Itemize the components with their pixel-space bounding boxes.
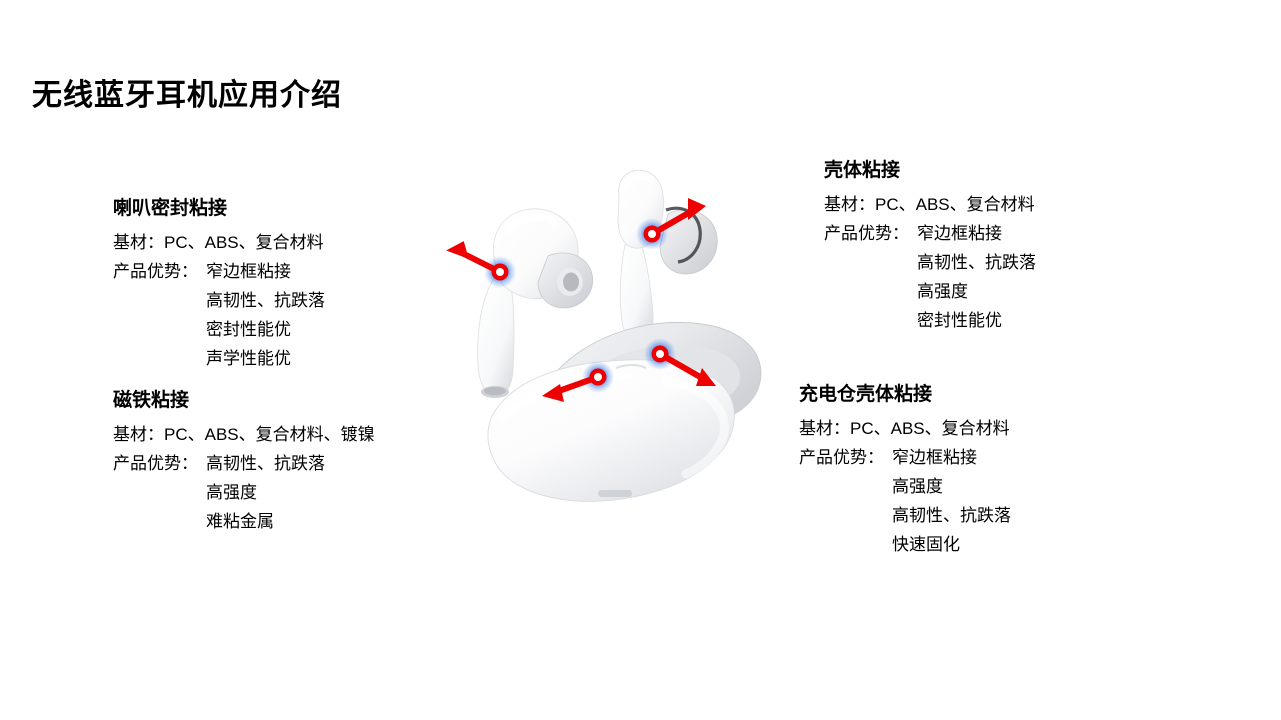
earbuds-illustration xyxy=(430,170,770,530)
callout-heading: 壳体粘接 xyxy=(824,160,1036,182)
callout-heading: 磁铁粘接 xyxy=(113,390,375,412)
substrate-label: 基材： xyxy=(799,414,850,443)
callout-magnet-bonding: 磁铁粘接 基材： PC、ABS、复合材料、镀镍 产品优势： 高韧性、抗跌落 高强… xyxy=(113,390,375,536)
advantage-item: 高强度 xyxy=(206,478,325,507)
advantage-label: 产品优势： xyxy=(824,219,917,248)
callout-charging-case-shell-bonding: 充电仓壳体粘接 基材： PC、ABS、复合材料 产品优势： 窄边框粘接 高强度 … xyxy=(799,384,1011,559)
charging-case xyxy=(488,322,761,501)
callout-speaker-seal-bonding: 喇叭密封粘接 基材： PC、ABS、复合材料 产品优势： 窄边框粘接 高韧性、抗… xyxy=(113,198,325,373)
advantage-item: 窄边框粘接 xyxy=(206,257,325,286)
advantage-item: 窄边框粘接 xyxy=(917,219,1036,248)
advantage-item: 高强度 xyxy=(917,277,1036,306)
right-earbud xyxy=(618,170,717,342)
substrate-label: 基材： xyxy=(113,420,164,449)
advantage-item: 快速固化 xyxy=(892,530,1011,559)
advantage-item: 难粘金属 xyxy=(206,507,325,536)
substrate-row: 基材： PC、ABS、复合材料 xyxy=(824,190,1036,219)
substrate-label: 基材： xyxy=(113,228,164,257)
substrate-row: 基材： PC、ABS、复合材料、镀镍 xyxy=(113,420,375,449)
substrate-value: PC、ABS、复合材料 xyxy=(875,190,1035,219)
advantage-row: 产品优势： 窄边框粘接 高韧性、抗跌落 高强度 密封性能优 xyxy=(824,219,1036,335)
advantage-list: 窄边框粘接 高韧性、抗跌落 密封性能优 声学性能优 xyxy=(206,257,325,373)
advantage-item: 高韧性、抗跌落 xyxy=(892,501,1011,530)
advantage-row: 产品优势： 高韧性、抗跌落 高强度 难粘金属 xyxy=(113,449,375,536)
advantage-item: 高韧性、抗跌落 xyxy=(206,449,325,478)
substrate-row: 基材： PC、ABS、复合材料 xyxy=(799,414,1011,443)
callout-heading: 充电仓壳体粘接 xyxy=(799,384,1011,406)
substrate-value: PC、ABS、复合材料、镀镍 xyxy=(164,420,375,449)
advantage-row: 产品优势： 窄边框粘接 高韧性、抗跌落 密封性能优 声学性能优 xyxy=(113,257,325,373)
callout-heading: 喇叭密封粘接 xyxy=(113,198,325,220)
substrate-value: PC、ABS、复合材料 xyxy=(850,414,1010,443)
advantage-item: 密封性能优 xyxy=(917,306,1036,335)
page-title: 无线蓝牙耳机应用介绍 xyxy=(32,79,342,113)
advantage-item: 高强度 xyxy=(892,472,1011,501)
advantage-label: 产品优势： xyxy=(113,257,206,286)
callout-shell-bonding: 壳体粘接 基材： PC、ABS、复合材料 产品优势： 窄边框粘接 高韧性、抗跌落… xyxy=(824,160,1036,335)
advantage-list: 高韧性、抗跌落 高强度 难粘金属 xyxy=(206,449,325,536)
advantage-item: 声学性能优 xyxy=(206,344,325,373)
advantage-item: 密封性能优 xyxy=(206,315,325,344)
advantage-item: 窄边框粘接 xyxy=(892,443,1011,472)
substrate-value: PC、ABS、复合材料 xyxy=(164,228,324,257)
advantage-item: 高韧性、抗跌落 xyxy=(917,248,1036,277)
advantage-label: 产品优势： xyxy=(113,449,206,478)
advantage-label: 产品优势： xyxy=(799,443,892,472)
substrate-row: 基材： PC、ABS、复合材料 xyxy=(113,228,325,257)
slide-canvas: 无线蓝牙耳机应用介绍 喇叭密封粘接 基材： PC、ABS、复合材料 产品优势： … xyxy=(0,0,1281,720)
substrate-label: 基材： xyxy=(824,190,875,219)
advantage-list: 窄边框粘接 高强度 高韧性、抗跌落 快速固化 xyxy=(892,443,1011,559)
advantage-list: 窄边框粘接 高韧性、抗跌落 高强度 密封性能优 xyxy=(917,219,1036,335)
advantage-item: 高韧性、抗跌落 xyxy=(206,286,325,315)
advantage-row: 产品优势： 窄边框粘接 高强度 高韧性、抗跌落 快速固化 xyxy=(799,443,1011,559)
